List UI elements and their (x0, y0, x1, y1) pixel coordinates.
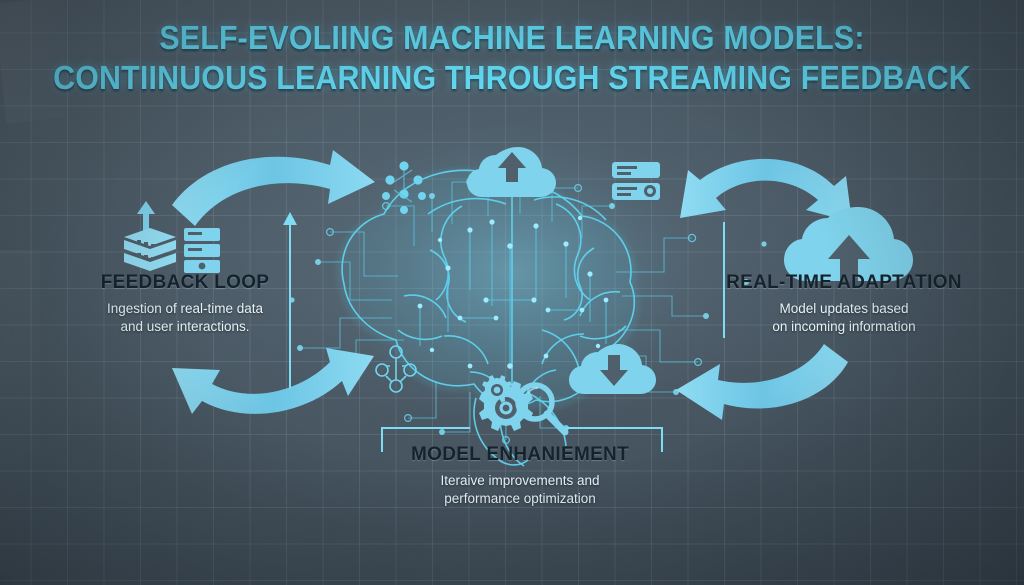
model-enhancement-description: Iteraive improvements and performance op… (384, 472, 656, 508)
cloud-upload-icon-right (784, 207, 913, 281)
server-rack-icon (184, 228, 220, 273)
arrow-top-right (680, 159, 852, 222)
real-time-adaptation-description: Model updates based on incoming informat… (716, 300, 972, 336)
arrow-bottom-left (172, 348, 374, 414)
database-stack-upload-icon (124, 201, 176, 271)
real-time-adaptation-title: REAL-TIME ADAPTATION (716, 272, 972, 294)
model-enhancement-desc-line-1: Iteraive improvements and (384, 472, 656, 490)
node-label-real-time-adaptation: REAL-TIME ADAPTATION Model updates based… (716, 272, 972, 336)
node-label-model-enhancement: MODEL ENHANIEMENT Iteraive improvements … (384, 444, 656, 508)
model-enhancement-title: MODEL ENHANIEMENT (384, 444, 656, 466)
infographic-canvas: SELF-EVOLIING MACHINE LEARNING MODELS: C… (0, 0, 1024, 585)
real-time-adaptation-desc-line-2: on incoming information (716, 318, 972, 336)
feedback-loop-desc-line-2: and user interactions. (60, 318, 310, 336)
model-enhancement-desc-line-2: performance optimization (384, 490, 656, 508)
feedback-loop-description: Ingestion of real-time data and user int… (60, 300, 310, 336)
node-label-feedback-loop: FEEDBACK LOOP Ingestion of real-time dat… (60, 272, 310, 336)
real-time-adaptation-desc-line-1: Model updates based (716, 300, 972, 318)
feedback-loop-desc-line-1: Ingestion of real-time data (60, 300, 310, 318)
arrow-bottom-right (676, 344, 848, 420)
feedback-loop-title: FEEDBACK LOOP (60, 272, 310, 294)
